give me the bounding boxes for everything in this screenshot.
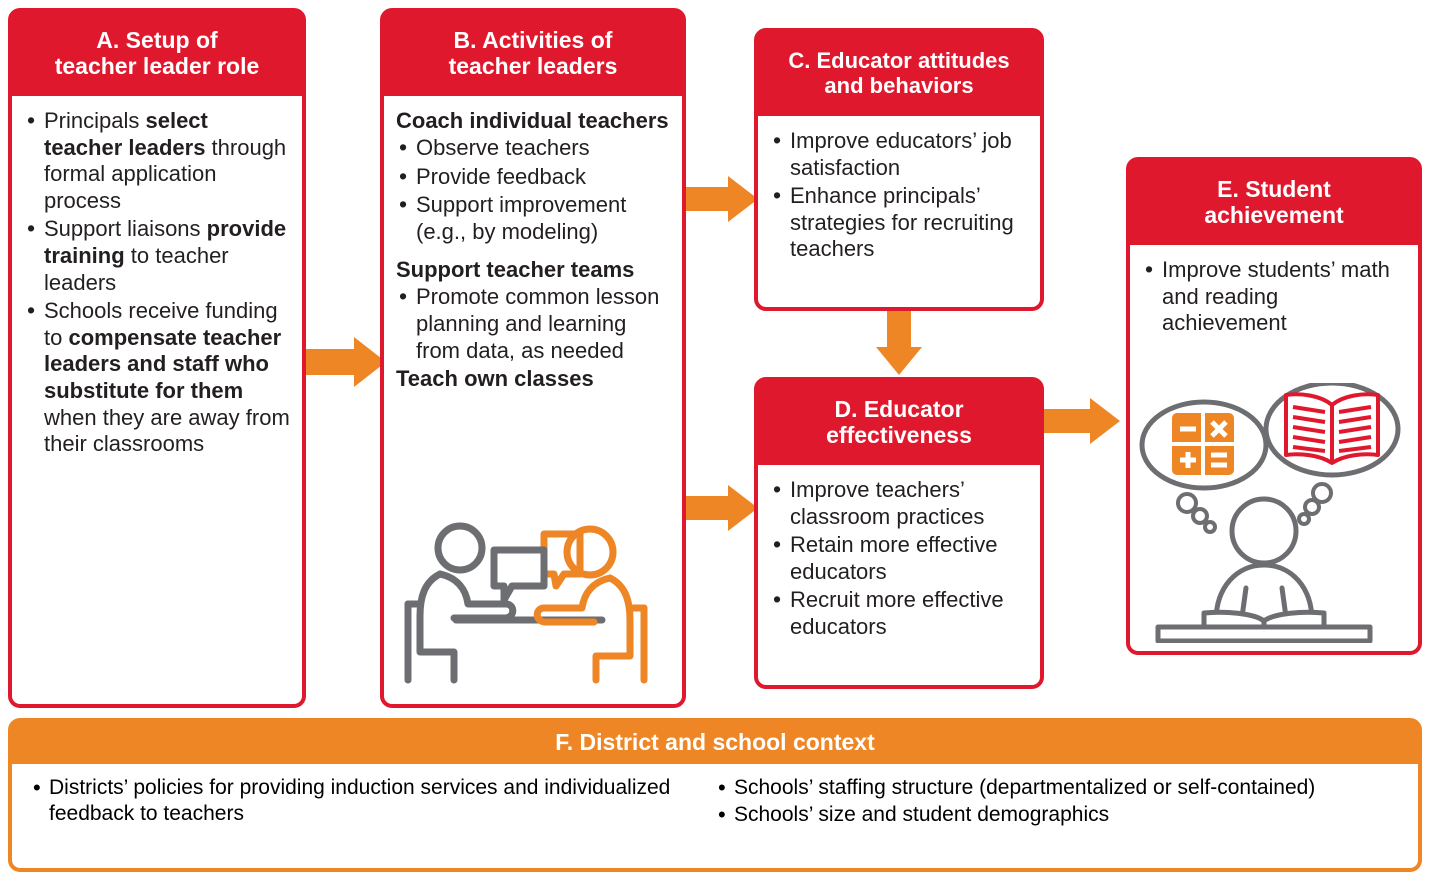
box-b-g1-bullet-0: Promote common lesson planning and learn… bbox=[416, 284, 659, 362]
box-e-title-text: E. Studentachievement bbox=[1204, 177, 1343, 229]
arrow-c-to-d bbox=[876, 311, 922, 375]
list-item: Retain more effective educators bbox=[770, 532, 1028, 585]
box-b-g0-bullet-0: Observe teachers bbox=[416, 135, 590, 160]
box-f-right-column: Schools’ staffing structure (departmenta… bbox=[715, 775, 1400, 830]
logic-model-diagram: A. Setup ofteacher leader role Principal… bbox=[0, 0, 1430, 880]
box-b-g0-bullet-1: Provide feedback bbox=[416, 164, 586, 189]
box-f-district-and-school-context: F. District and school context Districts… bbox=[8, 718, 1422, 872]
box-a-bullet-1: Support liaisons provide training to tea… bbox=[44, 216, 286, 294]
box-c-title-text: C. Educator attitudesand behaviors bbox=[788, 49, 1009, 98]
box-d-bullet-0: Improve teachers’ classroom practices bbox=[790, 477, 984, 529]
arrow-a-to-b bbox=[306, 337, 386, 387]
box-d-title-text: D. Educatoreffectiveness bbox=[826, 397, 972, 449]
list-item: Principals select teacher leaders throug… bbox=[24, 108, 290, 214]
list-item: Support improvement (e.g., by modeling) bbox=[396, 192, 670, 245]
box-b-group-0-list: Observe teachers Provide feedback Suppor… bbox=[396, 135, 670, 245]
box-a-bullet-2: Schools receive funding to com­pensate t… bbox=[44, 298, 290, 456]
list-item: Enhance principals’ strategies for recru… bbox=[770, 183, 1028, 263]
box-a-body: Principals select teacher leaders throug… bbox=[12, 96, 302, 468]
box-d-body: Improve teachers’ classroom practices Re… bbox=[758, 465, 1040, 651]
box-f-right-bullet-1: Schools’ size and student demographics bbox=[734, 803, 1109, 826]
list-item: Observe teachers bbox=[396, 135, 670, 162]
box-b-body: Coach individual teachers Observe teache… bbox=[384, 96, 682, 401]
box-b-group-0-heading: Coach individual teachers bbox=[396, 108, 670, 134]
box-e-title: E. Studentachievement bbox=[1130, 161, 1418, 245]
arrow-d-to-e bbox=[1044, 398, 1122, 444]
open-book-icon bbox=[1286, 394, 1378, 463]
list-item: Recruit more effective educators bbox=[770, 587, 1028, 640]
box-c-bullet-0: Improve educators’ job satisfaction bbox=[790, 128, 1012, 180]
box-b-group-1-list: Promote common lesson planning and learn… bbox=[396, 284, 670, 364]
box-b-title-line2: teacher leaders bbox=[449, 54, 618, 80]
box-b-g0-bullet-2: Support improvement (e.g., by modeling) bbox=[416, 192, 626, 244]
list-item: Schools’ staffing structure (departmenta… bbox=[715, 775, 1400, 801]
box-a-setup-of-teacher-leader-role: A. Setup ofteacher leader role Principal… bbox=[8, 8, 306, 708]
box-c-title-line1: C. Educator attitudes bbox=[788, 49, 1009, 74]
box-f-left-column: Districts’ policies for providing induct… bbox=[30, 775, 715, 830]
box-a-title: A. Setup ofteacher leader role bbox=[12, 12, 302, 96]
box-d-title: D. Educatoreffectiveness bbox=[758, 381, 1040, 465]
arrow-b-to-c bbox=[686, 176, 758, 222]
box-d-bullet-2: Recruit more effective educators bbox=[790, 587, 1004, 639]
box-a-bullet-0: Principals select teacher leaders throug… bbox=[44, 108, 286, 213]
box-f-body: Districts’ policies for providing induct… bbox=[12, 764, 1418, 830]
box-e-title-line1: E. Student bbox=[1204, 177, 1343, 203]
box-c-title-line2: and behaviors bbox=[788, 74, 1009, 99]
box-a-title-text: A. Setup ofteacher leader role bbox=[55, 28, 260, 80]
list-item: Districts’ policies for providing induct… bbox=[30, 775, 715, 828]
box-c-bullet-list: Improve educators’ job satisfaction Enha… bbox=[770, 128, 1028, 263]
list-item: Schools’ size and student demographics bbox=[715, 802, 1400, 828]
box-d-bullet-list: Improve teachers’ classroom practices Re… bbox=[770, 477, 1028, 641]
list-item: Promote common lesson planning and learn… bbox=[396, 284, 670, 364]
box-c-bullet-1: Enhance principals’ strategies for recru… bbox=[790, 183, 1014, 261]
box-b-group-2-heading: Teach own classes bbox=[396, 366, 670, 392]
list-item: Improve teachers’ classroom practices bbox=[770, 477, 1028, 530]
box-b-title: B. Activities ofteacher leaders bbox=[384, 12, 682, 96]
list-item: Provide feedback bbox=[396, 164, 670, 191]
list-item: Improve educators’ job satisfaction bbox=[770, 128, 1028, 181]
box-b-group-1-heading: Support teacher teams bbox=[396, 257, 670, 283]
box-f-left-bullet-0: Districts’ policies for providing induct… bbox=[49, 776, 670, 825]
box-b-activities-of-teacher-leaders: B. Activities ofteacher leaders Coach in… bbox=[380, 8, 686, 708]
box-a-title-line1: A. Setup of bbox=[55, 28, 260, 54]
box-b-title-text: B. Activities ofteacher leaders bbox=[449, 28, 618, 80]
list-item: Improve students’ math and reading achie… bbox=[1142, 257, 1406, 337]
two-people-at-table-talking-icon bbox=[394, 512, 674, 687]
box-f-title: F. District and school context bbox=[12, 722, 1418, 764]
box-c-educator-attitudes-and-behaviors: C. Educator attitudesand behaviors Impro… bbox=[754, 28, 1044, 311]
arrow-b-to-d bbox=[686, 485, 758, 531]
box-b-title-line1: B. Activities of bbox=[449, 28, 618, 54]
box-e-bullet-list: Improve students’ math and reading achie… bbox=[1142, 257, 1406, 337]
box-a-bullet-list: Principals select teacher leaders throug… bbox=[24, 108, 290, 458]
box-d-title-line1: D. Educator bbox=[826, 397, 972, 423]
box-e-title-line2: achievement bbox=[1204, 203, 1343, 229]
list-item: Support liaisons provide training to tea… bbox=[24, 216, 290, 296]
box-e-body: Improve students’ math and reading achie… bbox=[1130, 245, 1418, 347]
box-d-title-line2: effectiveness bbox=[826, 423, 972, 449]
box-c-body: Improve educators’ job satisfaction Enha… bbox=[758, 116, 1040, 273]
box-f-right-bullet-0: Schools’ staffing structure (departmenta… bbox=[734, 776, 1315, 799]
box-f-left-bullet-list: Districts’ policies for providing induct… bbox=[30, 775, 715, 828]
student-reading-with-math-and-book-thought-bubbles-icon bbox=[1136, 383, 1412, 643]
box-e-student-achievement: E. Studentachievement Improve students’ … bbox=[1126, 157, 1422, 655]
box-f-right-bullet-list: Schools’ staffing structure (departmenta… bbox=[715, 775, 1400, 829]
math-symbols-icon bbox=[1172, 413, 1234, 475]
box-a-title-line2: teacher leader role bbox=[55, 54, 260, 80]
list-item: Schools receive funding to com­pensate t… bbox=[24, 298, 290, 458]
box-c-title: C. Educator attitudesand behaviors bbox=[758, 32, 1040, 116]
box-e-bullet-0: Improve students’ math and reading achie… bbox=[1162, 257, 1390, 335]
box-d-bullet-1: Retain more effective educators bbox=[790, 532, 997, 584]
box-d-educator-effectiveness: D. Educatoreffectiveness Improve teacher… bbox=[754, 377, 1044, 689]
